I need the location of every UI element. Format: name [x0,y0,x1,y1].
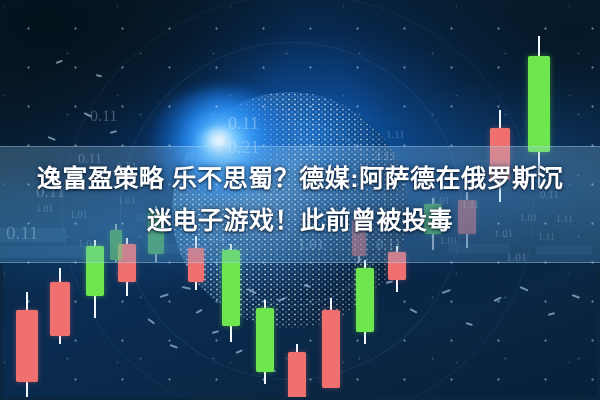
price-label: 0.11 [90,108,117,126]
price-label: 1.11 [386,129,405,141]
band-top-edge [0,146,600,147]
price-label: 0.11 [228,113,259,134]
band-bottom-edge [0,262,600,263]
banner-image: 0.111.010.111.011.011.010.110.210.110.11… [0,0,600,400]
headline-text: 逸富盈策略 乐不思蜀？德媒:阿萨德在俄罗斯沉 迷电子游戏！此前曾被投毒 [0,158,600,242]
frame-left-rule [0,263,3,400]
headline-line-1: 逸富盈策略 乐不思蜀？德媒:阿萨德在俄罗斯沉 [37,165,563,193]
headline-line-2: 迷电子游戏！此前曾被投毒 [8,200,592,242]
